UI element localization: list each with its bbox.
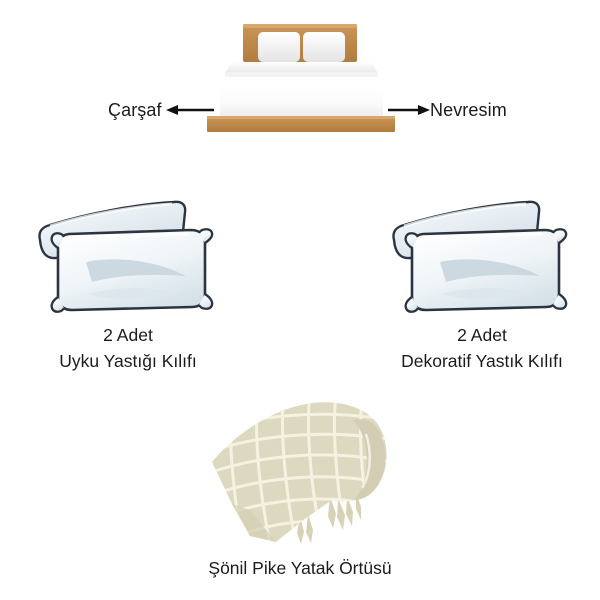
label-nevresim: Nevresim (430, 98, 507, 122)
caption-name: Şönil Pike Yatak Örtüsü (150, 555, 450, 581)
bedspread-body (200, 392, 392, 544)
caption-name: Dekoratif Yastık Kılıfı (332, 348, 600, 374)
bed-figure (0, 0, 600, 160)
caption-count: 2 Adet (332, 322, 600, 348)
caption-sleeping-pillowcases: 2 Adet Uyku Yastığı Kılıfı (0, 322, 278, 375)
diagram-canvas: Çarşaf Nevresim (0, 0, 600, 600)
pillow-front (52, 229, 213, 311)
bed-top-sheet (225, 62, 378, 77)
caption-count: 2 Adet (0, 322, 278, 348)
caption-decorative-pillowcases: 2 Adet Dekoratif Yastık Kılıfı (332, 322, 600, 375)
bed-base (207, 116, 395, 132)
bed-mattress (220, 77, 383, 117)
pillow-group-sleeping (28, 190, 228, 320)
arrow-left-icon (166, 105, 214, 115)
caption-bedspread: Şönil Pike Yatak Örtüsü (150, 555, 450, 581)
arrow-right-icon (388, 105, 430, 115)
label-carsaf: Çarşaf (108, 98, 162, 122)
bedspread-figure (180, 392, 430, 547)
pillow-front (406, 229, 567, 311)
pillow-group-decorative (382, 190, 582, 320)
caption-name: Uyku Yastığı Kılıfı (0, 348, 278, 374)
